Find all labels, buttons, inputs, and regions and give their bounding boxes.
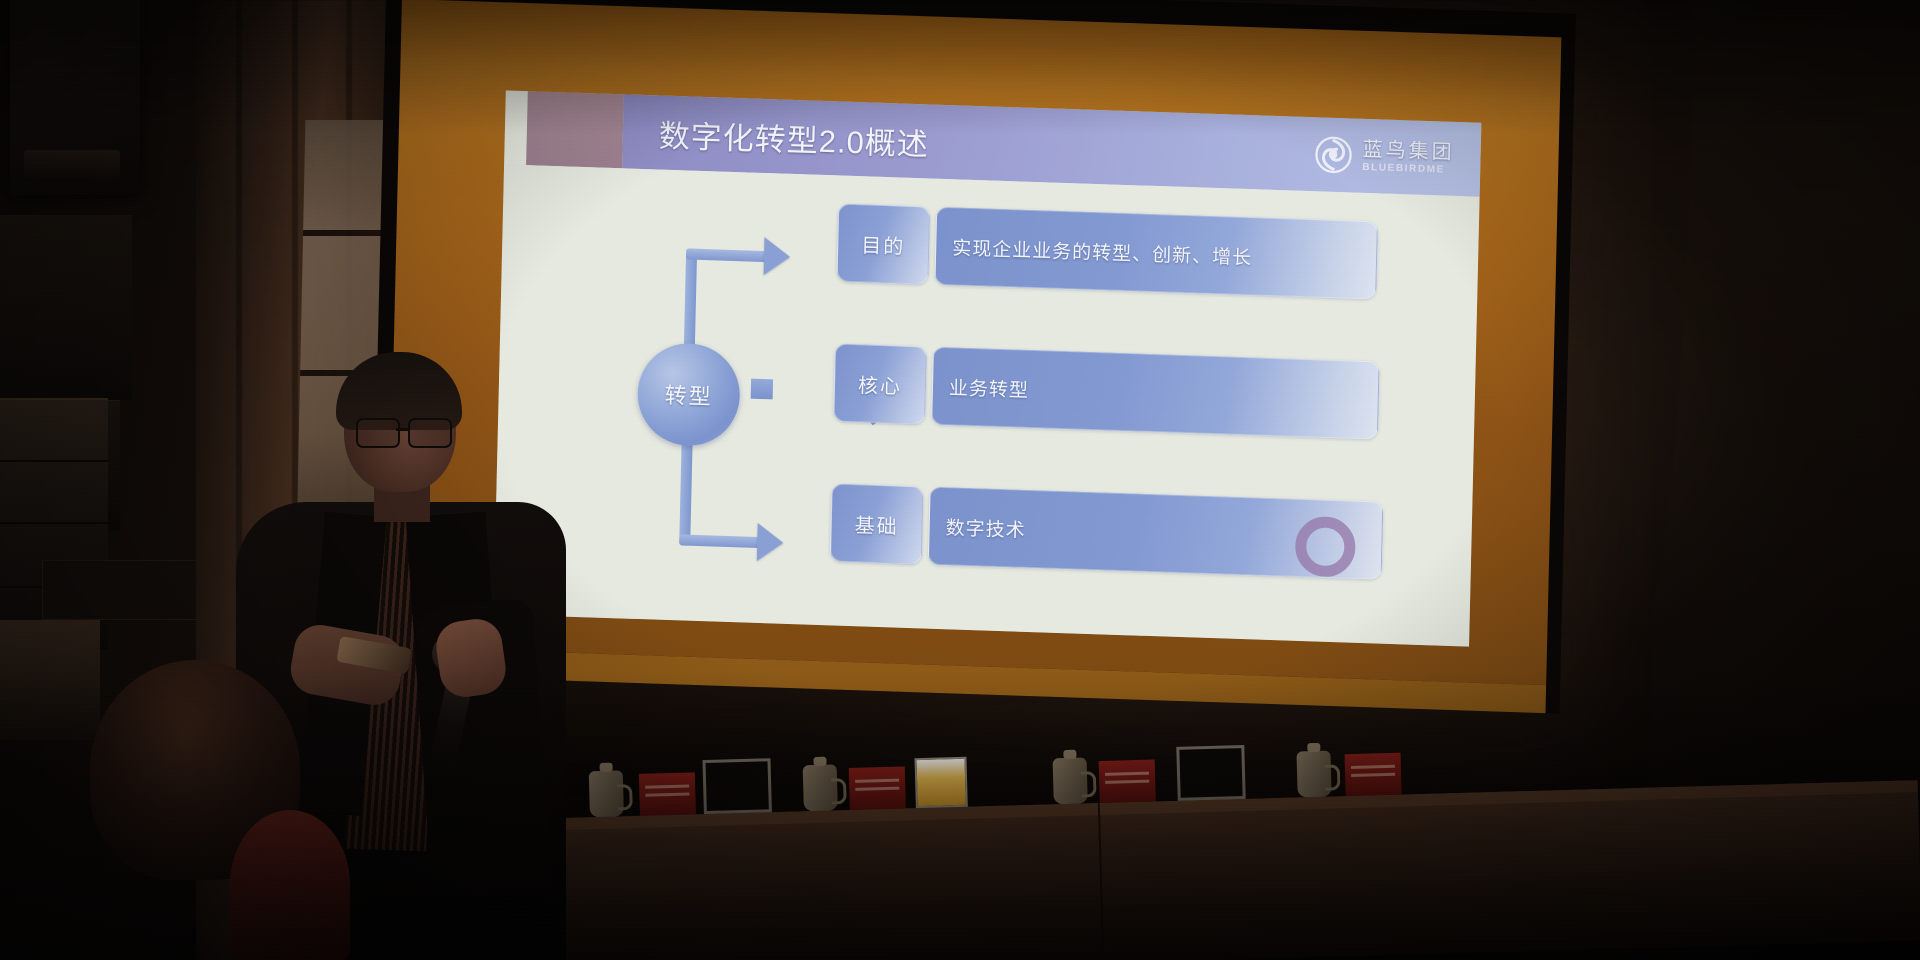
slide-body: 转型 目的 实现企业业务的转型、创新、增长 核心 bbox=[494, 164, 1480, 646]
photo-frame bbox=[702, 758, 771, 814]
mug bbox=[589, 770, 624, 817]
row-tag-label: 核心 bbox=[858, 369, 903, 399]
slide-title: 数字化转型2.0概述 bbox=[658, 110, 929, 164]
diagram-row: 基础 数字技术 bbox=[830, 483, 1384, 579]
audience-member bbox=[80, 660, 340, 960]
row-text: 实现企业业务的转型、创新、增长 bbox=[952, 233, 1253, 270]
mug bbox=[1296, 751, 1331, 798]
mug bbox=[803, 764, 838, 811]
photograph: 数字化转型2.0概述 蓝鸟集团 bbox=[0, 0, 1920, 960]
diagram-row: 核心 业务转型 bbox=[833, 343, 1380, 439]
arrow-middle-icon bbox=[751, 379, 773, 400]
arrow-head-up-icon bbox=[764, 237, 791, 276]
wall-panel-upper bbox=[0, 215, 132, 400]
row-tag: 基础 bbox=[830, 483, 924, 564]
wall-speaker-box bbox=[10, 0, 140, 195]
logo-name-en: BLUEBIRDME bbox=[1362, 162, 1454, 175]
beer-glass bbox=[914, 757, 967, 808]
table-seam bbox=[1098, 803, 1104, 960]
arrow-head-down-icon bbox=[757, 523, 784, 562]
row-bar: 数字技术 bbox=[928, 487, 1384, 580]
company-logo: 蓝鸟集团 BLUEBIRDME bbox=[1314, 135, 1455, 178]
hub-label: 转型 bbox=[664, 378, 713, 412]
title-accent-white bbox=[504, 90, 528, 165]
conference-table bbox=[498, 780, 1920, 960]
row-tag-label: 目的 bbox=[861, 229, 906, 259]
connector-stem-down bbox=[679, 435, 693, 545]
name-placard bbox=[1099, 759, 1156, 803]
logo-name-cn: 蓝鸟集团 bbox=[1362, 139, 1454, 162]
row-tag: 目的 bbox=[836, 203, 930, 284]
row-tag-label: 基础 bbox=[854, 509, 899, 539]
mug bbox=[1053, 757, 1088, 804]
title-accent-mauve bbox=[526, 91, 624, 168]
row-bar: 业务转型 bbox=[931, 347, 1380, 440]
name-placard bbox=[1345, 753, 1402, 797]
logo-wordmark: 蓝鸟集团 BLUEBIRDME bbox=[1362, 139, 1455, 175]
equipment-rack bbox=[42, 560, 209, 620]
audience-red-garment bbox=[230, 810, 350, 960]
hub-circle: 转型 bbox=[637, 342, 741, 447]
name-placard bbox=[849, 766, 906, 810]
row-text: 业务转型 bbox=[949, 373, 1030, 403]
eyeglasses-icon bbox=[356, 418, 452, 444]
row-bar: 实现企业业务的转型、创新、增长 bbox=[934, 207, 1378, 300]
decorative-ring-icon bbox=[1295, 516, 1356, 578]
diagram-row: 目的 实现企业业务的转型、创新、增长 bbox=[836, 203, 1378, 299]
row-text: 数字技术 bbox=[945, 513, 1026, 543]
connector-stem-up bbox=[684, 248, 697, 353]
row-tag: 核心 bbox=[833, 343, 927, 424]
bluebird-swirl-icon bbox=[1314, 135, 1353, 174]
name-placard bbox=[639, 772, 696, 816]
connector-arm-up bbox=[686, 248, 772, 262]
connector-arm-down bbox=[679, 534, 765, 548]
presentation-slide: 数字化转型2.0概述 蓝鸟集团 bbox=[494, 90, 1482, 646]
photo-frame bbox=[1176, 745, 1245, 801]
